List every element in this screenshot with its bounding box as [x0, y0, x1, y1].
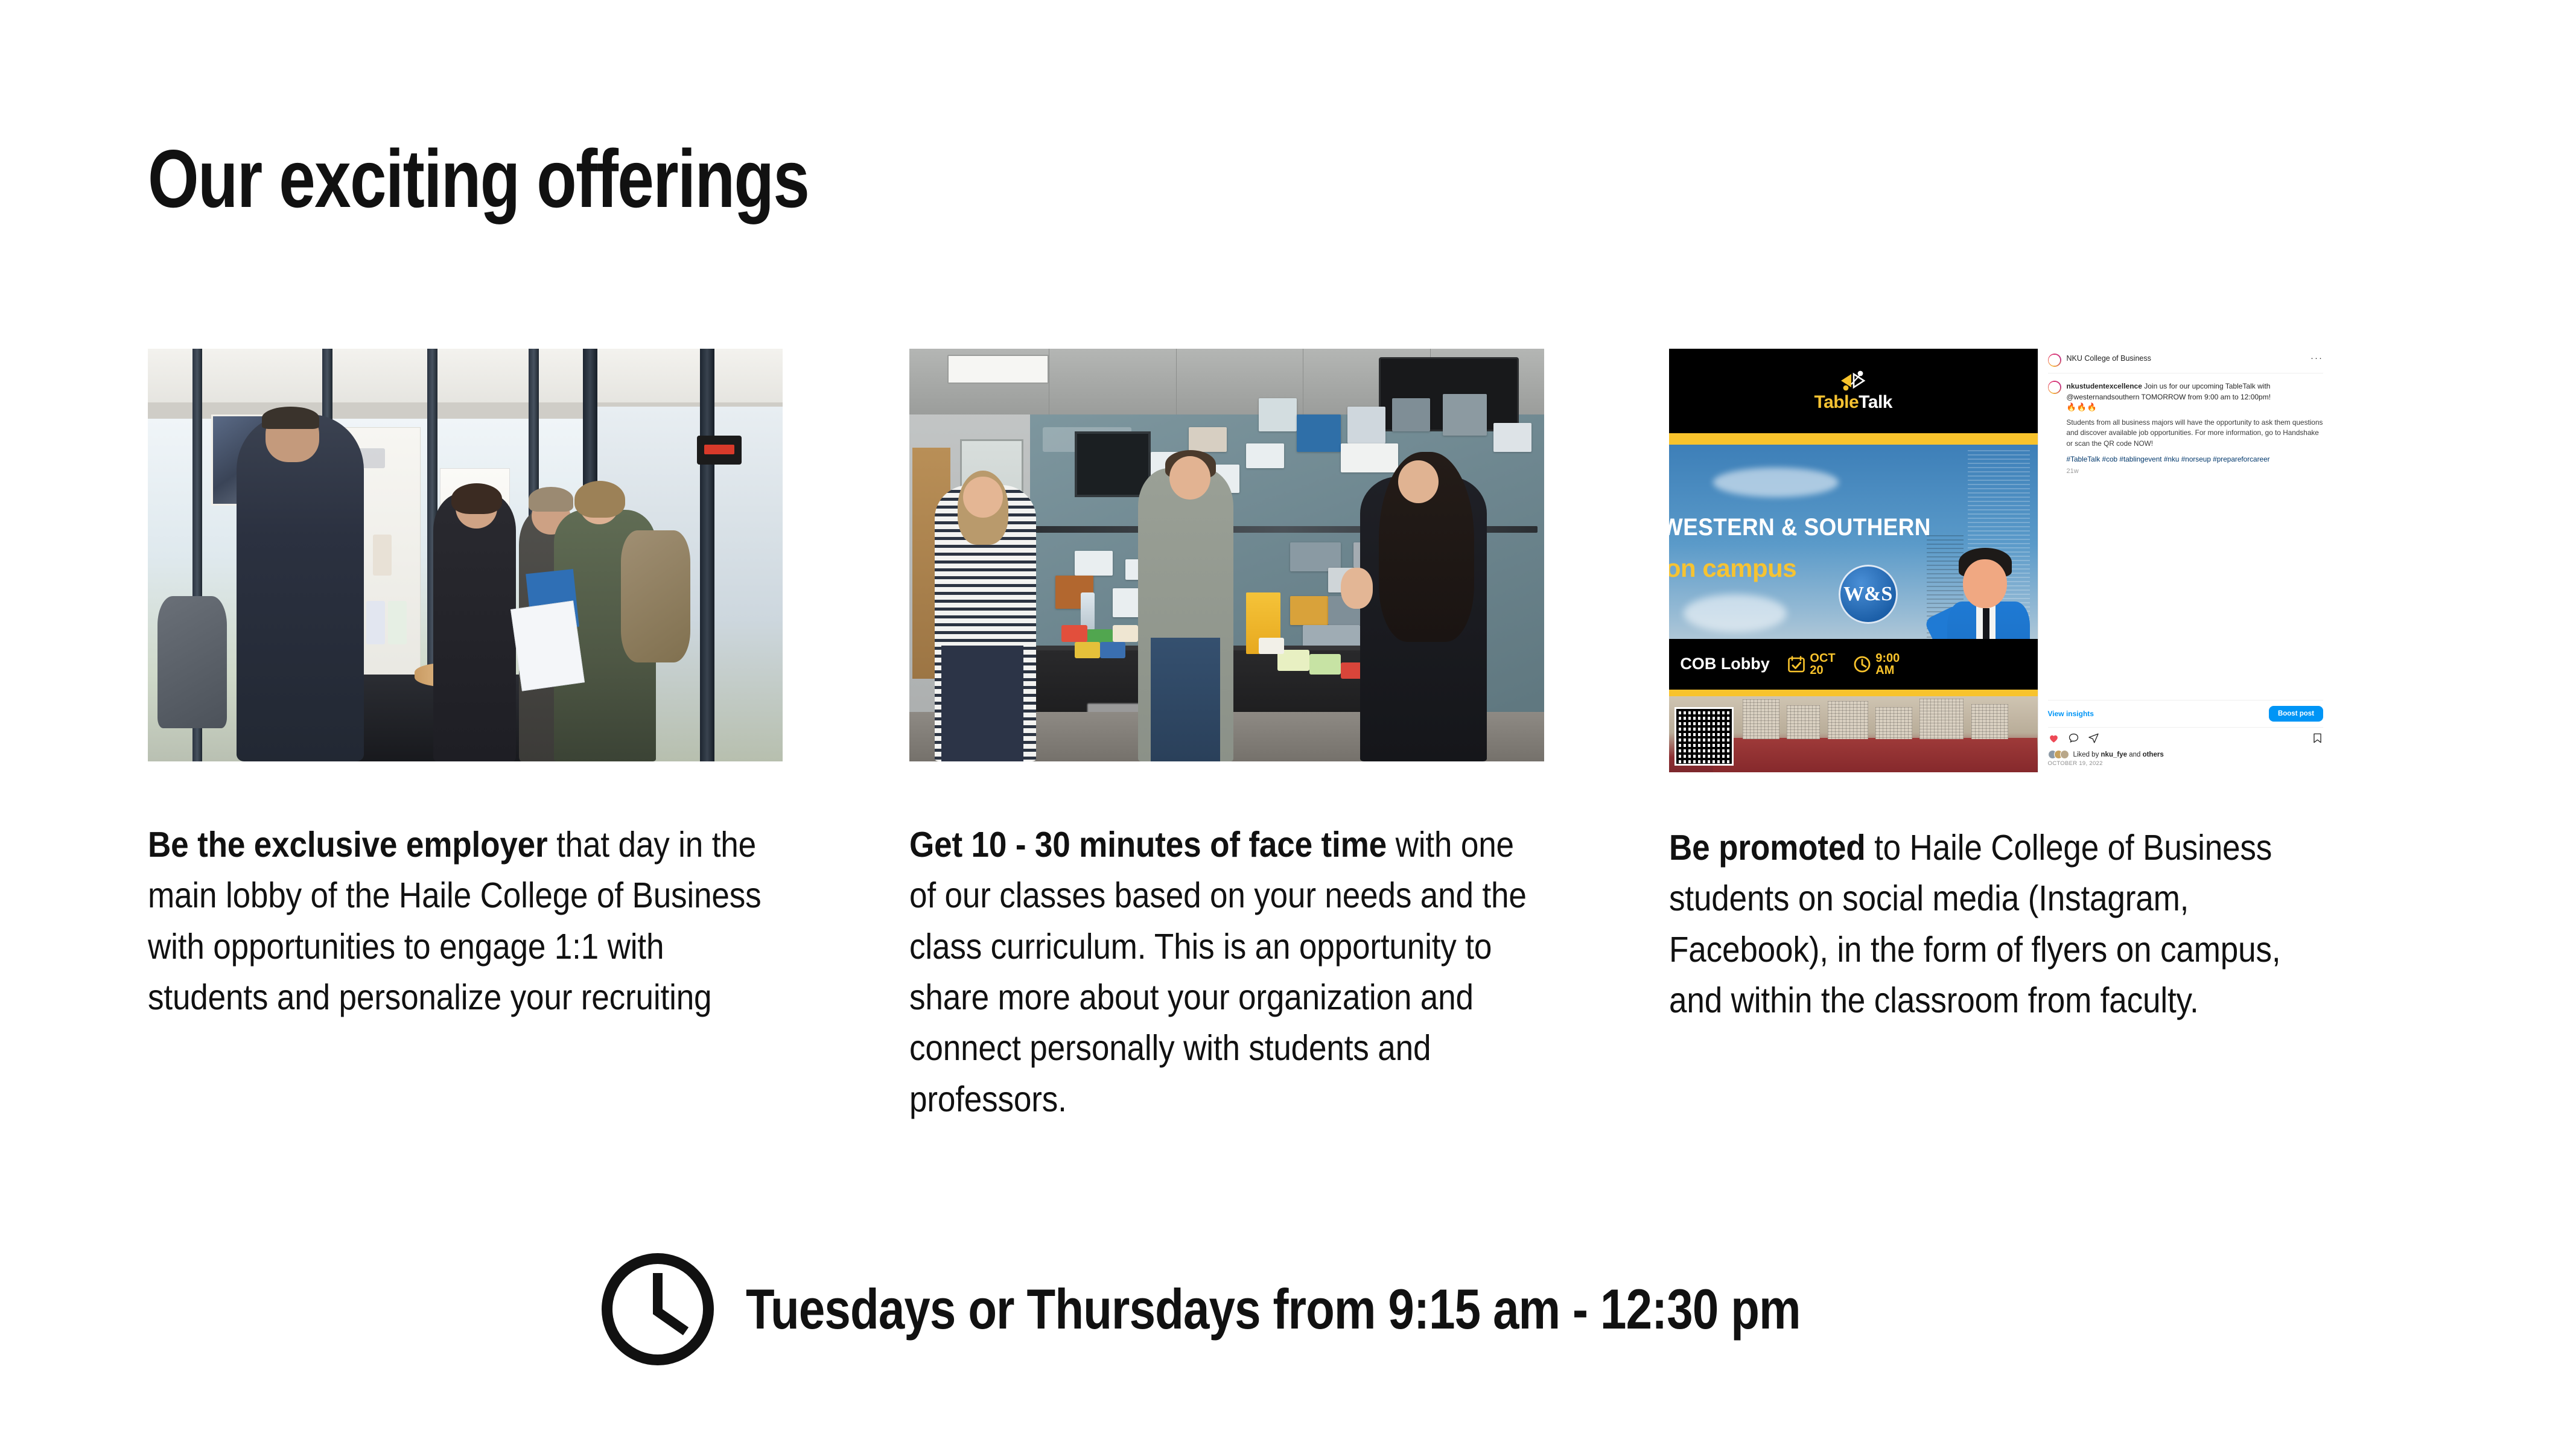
clock-icon — [1853, 655, 1871, 673]
instagram-caption-emoji: 🔥🔥🔥 — [2067, 402, 2324, 412]
classroom-illustration — [909, 349, 1544, 761]
flyer-brand-part1: Table — [1814, 392, 1859, 412]
instagram-liked-by: Liked by nku_fye and others — [2048, 750, 2324, 760]
liked-by-prefix: Liked by — [2073, 751, 2101, 758]
career-fair-illustration — [148, 349, 783, 761]
flyer-date-day: 20 — [1810, 664, 1823, 677]
flyer-gold-divider-top — [1669, 433, 2038, 444]
caption-lead-1: Be the exclusive employer — [148, 825, 548, 865]
page-title: Our exciting offerings — [148, 138, 809, 220]
flyer-time-chip: 9:00AM — [1853, 652, 1900, 677]
bookmark-icon[interactable] — [2312, 732, 2323, 747]
offering-column-face-time: Get 10 - 30 minutes of face time with on… — [909, 349, 1544, 761]
caption-lead-3: Be promoted — [1669, 828, 1865, 868]
instagram-detail-panel: NKU College of Business ··· nkustudentex… — [2038, 349, 2333, 772]
instagram-insights-row: View insights Boost post — [2048, 700, 2324, 727]
flyer-details-bar: COB Lobby OCT — [1669, 639, 2038, 690]
caption-lead-2: Get 10 - 30 minutes of face time — [909, 825, 1387, 865]
more-options-icon[interactable]: ··· — [2310, 354, 2323, 363]
instagram-action-bar — [2048, 727, 2324, 750]
table-talk-flyer[interactable]: TableTalk WESTERN & SOUTHERN on campus W… — [1669, 349, 2038, 772]
flyer-headline-1: WESTERN & SOUTHERN — [1669, 514, 1931, 541]
flyer-brand-part2: Talk — [1859, 392, 1892, 412]
instagram-post-age: 21w — [2067, 468, 2324, 475]
share-icon[interactable] — [2088, 732, 2099, 747]
offering-column-be-promoted: TableTalk WESTERN & SOUTHERN on campus W… — [1669, 349, 2333, 772]
heart-icon[interactable] — [2048, 732, 2059, 747]
instagram-account-header[interactable]: NKU College of Business ··· — [2048, 349, 2324, 372]
qr-code[interactable] — [1674, 707, 1734, 766]
instagram-header-account: NKU College of Business — [2067, 354, 2151, 363]
flyer-brand-header: TableTalk — [1669, 349, 2038, 433]
photo-career-fair — [148, 349, 783, 761]
flyer-brand-text: TableTalk — [1814, 393, 1892, 411]
offering-column-exclusive-employer: Be the exclusive employer that day in th… — [148, 349, 783, 761]
schedule-text: Tuesdays or Thursdays from 9:15 am - 12:… — [746, 1277, 1801, 1342]
offering-caption-1: Be the exclusive employer that day in th… — [148, 819, 782, 1023]
divider — [2048, 373, 2324, 373]
flyer-location: COB Lobby — [1680, 655, 1770, 673]
sponsor-logo-ws: W&S — [1839, 565, 1898, 624]
avatar — [2048, 354, 2061, 367]
photo-instagram-post: TableTalk WESTERN & SOUTHERN on campus W… — [1669, 349, 2333, 772]
offering-caption-2: Get 10 - 30 minutes of face time with on… — [909, 819, 1544, 1125]
flyer-date-chip: OCT20 — [1787, 652, 1835, 677]
table-talk-logo-icon — [1839, 370, 1867, 391]
flyer-time-meridiem: AM — [1875, 664, 1894, 677]
instagram-caption-row: nkustudentexcellence Join us for our upc… — [2048, 376, 2324, 480]
instagram-caption: nkustudentexcellence Join us for our upc… — [2067, 382, 2271, 401]
boost-post-button[interactable]: Boost post — [2269, 706, 2323, 722]
liked-by-others[interactable]: others — [2143, 751, 2164, 758]
offering-caption-3: Be promoted to Haile College of Business… — [1669, 822, 2332, 1026]
flyer-gold-divider-bottom — [1669, 690, 2038, 696]
liked-by-user[interactable]: nku_fye — [2101, 751, 2127, 758]
liked-by-suffix: and — [2127, 751, 2143, 758]
clock-icon — [597, 1249, 718, 1370]
instagram-post-date: OCTOBER 19, 2022 — [2048, 760, 2324, 772]
instagram-caption-body: Students from all business majors will h… — [2067, 418, 2324, 449]
flyer-time-value: 9:00 — [1875, 652, 1900, 665]
comment-icon[interactable] — [2068, 732, 2079, 747]
photo-classroom-table — [909, 349, 1544, 761]
instagram-post-screenshot: TableTalk WESTERN & SOUTHERN on campus W… — [1669, 349, 2333, 772]
view-insights-link[interactable]: View insights — [2048, 710, 2094, 718]
liked-by-avatars — [2048, 750, 2069, 759]
instagram-caption-username[interactable]: nkustudentexcellence — [2067, 382, 2142, 390]
instagram-footer: View insights Boost post — [2048, 700, 2324, 772]
slide-root: Our exciting offerings — [0, 0, 2576, 1448]
flyer-headline-2: on campus — [1669, 554, 1796, 583]
calendar-icon — [1787, 655, 1805, 673]
avatar — [2048, 381, 2061, 394]
schedule-footer: Tuesdays or Thursdays from 9:15 am - 12:… — [597, 1249, 2017, 1370]
flyer-date-month: OCT — [1810, 652, 1835, 665]
caption-body-2: with one of our classes based on your ne… — [909, 825, 1527, 1119]
instagram-hashtags[interactable]: #TableTalk #cob #tablingevent #nku #nors… — [2067, 454, 2324, 465]
